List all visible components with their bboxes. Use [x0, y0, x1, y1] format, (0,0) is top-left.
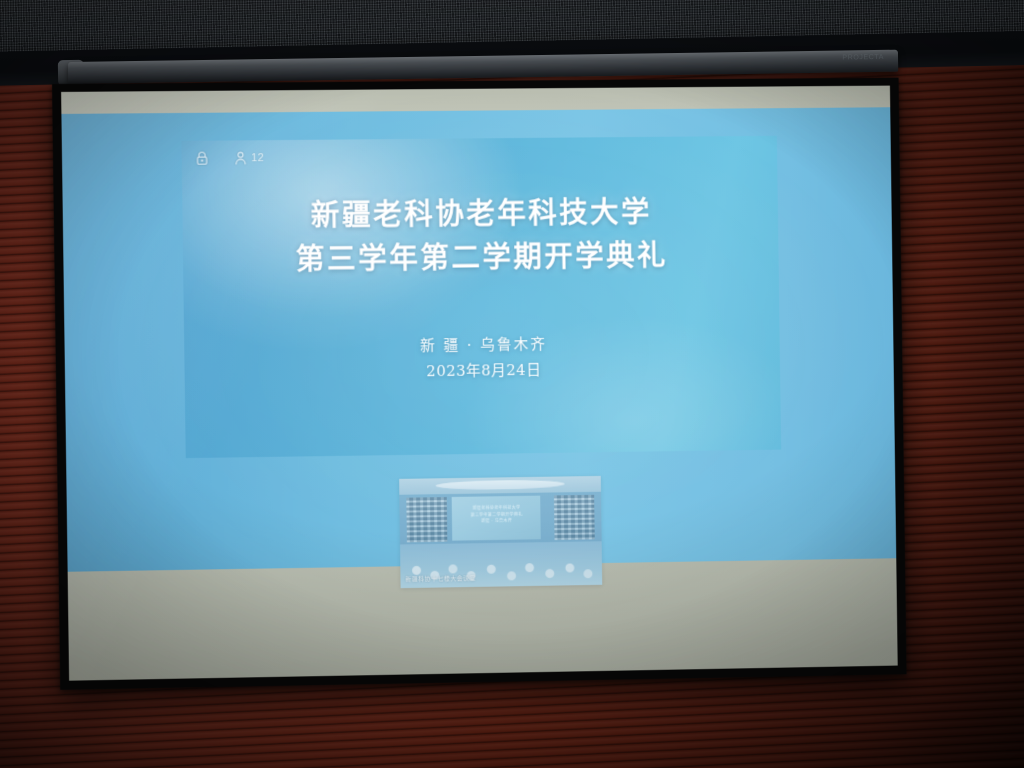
slide-title-line-1: 新疆老科协老年科技大学: [182, 189, 778, 239]
pip-inner-screen-text: 新疆老科协老年科技大学 第三学年第二学期开学典礼 新疆 · 乌鲁木齐: [452, 505, 541, 526]
meeting-status-bar: 12: [195, 150, 264, 166]
projected-light-area: 12 新疆老科协老年科技大学 第三学年第二学期开学典礼 新 疆 · 乌鲁木齐 2…: [61, 107, 896, 571]
screen-surface: 12 新疆老科协老年科技大学 第三学年第二学期开学典礼 新 疆 · 乌鲁木齐 2…: [61, 86, 898, 681]
slide-subtitle: 新 疆 · 乌鲁木齐 2023年8月24日: [184, 328, 780, 388]
pip-led-panel-left: [406, 497, 447, 542]
participants-count: 12: [251, 152, 264, 164]
lock-icon: [195, 151, 208, 166]
pip-led-panel-right: [554, 495, 595, 540]
photo-scene: PROJECTA: [0, 0, 1024, 768]
participants-chip[interactable]: 12: [234, 151, 264, 165]
participants-icon: [234, 151, 247, 165]
slide-title-line-2: 第三学年第二学期开学典礼: [183, 233, 779, 283]
projection-screen: 12 新疆老科协老年科技大学 第三学年第二学期开学典礼 新 疆 · 乌鲁木齐 2…: [52, 78, 907, 690]
pip-caption: 新疆科协十七楼大会议室: [405, 573, 476, 583]
presentation-slide: 12 新疆老科协老年科技大学 第三学年第二学期开学典礼 新 疆 · 乌鲁木齐 2…: [181, 136, 781, 458]
pip-inner-screen: 新疆老科协老年科技大学 第三学年第二学期开学典礼 新疆 · 乌鲁木齐: [452, 496, 541, 541]
projector-brand-mark: PROJECTA: [842, 54, 884, 62]
conference-photo-thumbnail[interactable]: 新疆老科协老年科技大学 第三学年第二学期开学典礼 新疆 · 乌鲁木齐 新疆科协十…: [399, 476, 602, 588]
meeting-lock-chip[interactable]: [195, 151, 208, 166]
slide-title: 新疆老科协老年科技大学 第三学年第二学期开学典礼: [182, 189, 779, 283]
pip-inner-line-3: 新疆 · 乌鲁木齐: [452, 518, 541, 526]
